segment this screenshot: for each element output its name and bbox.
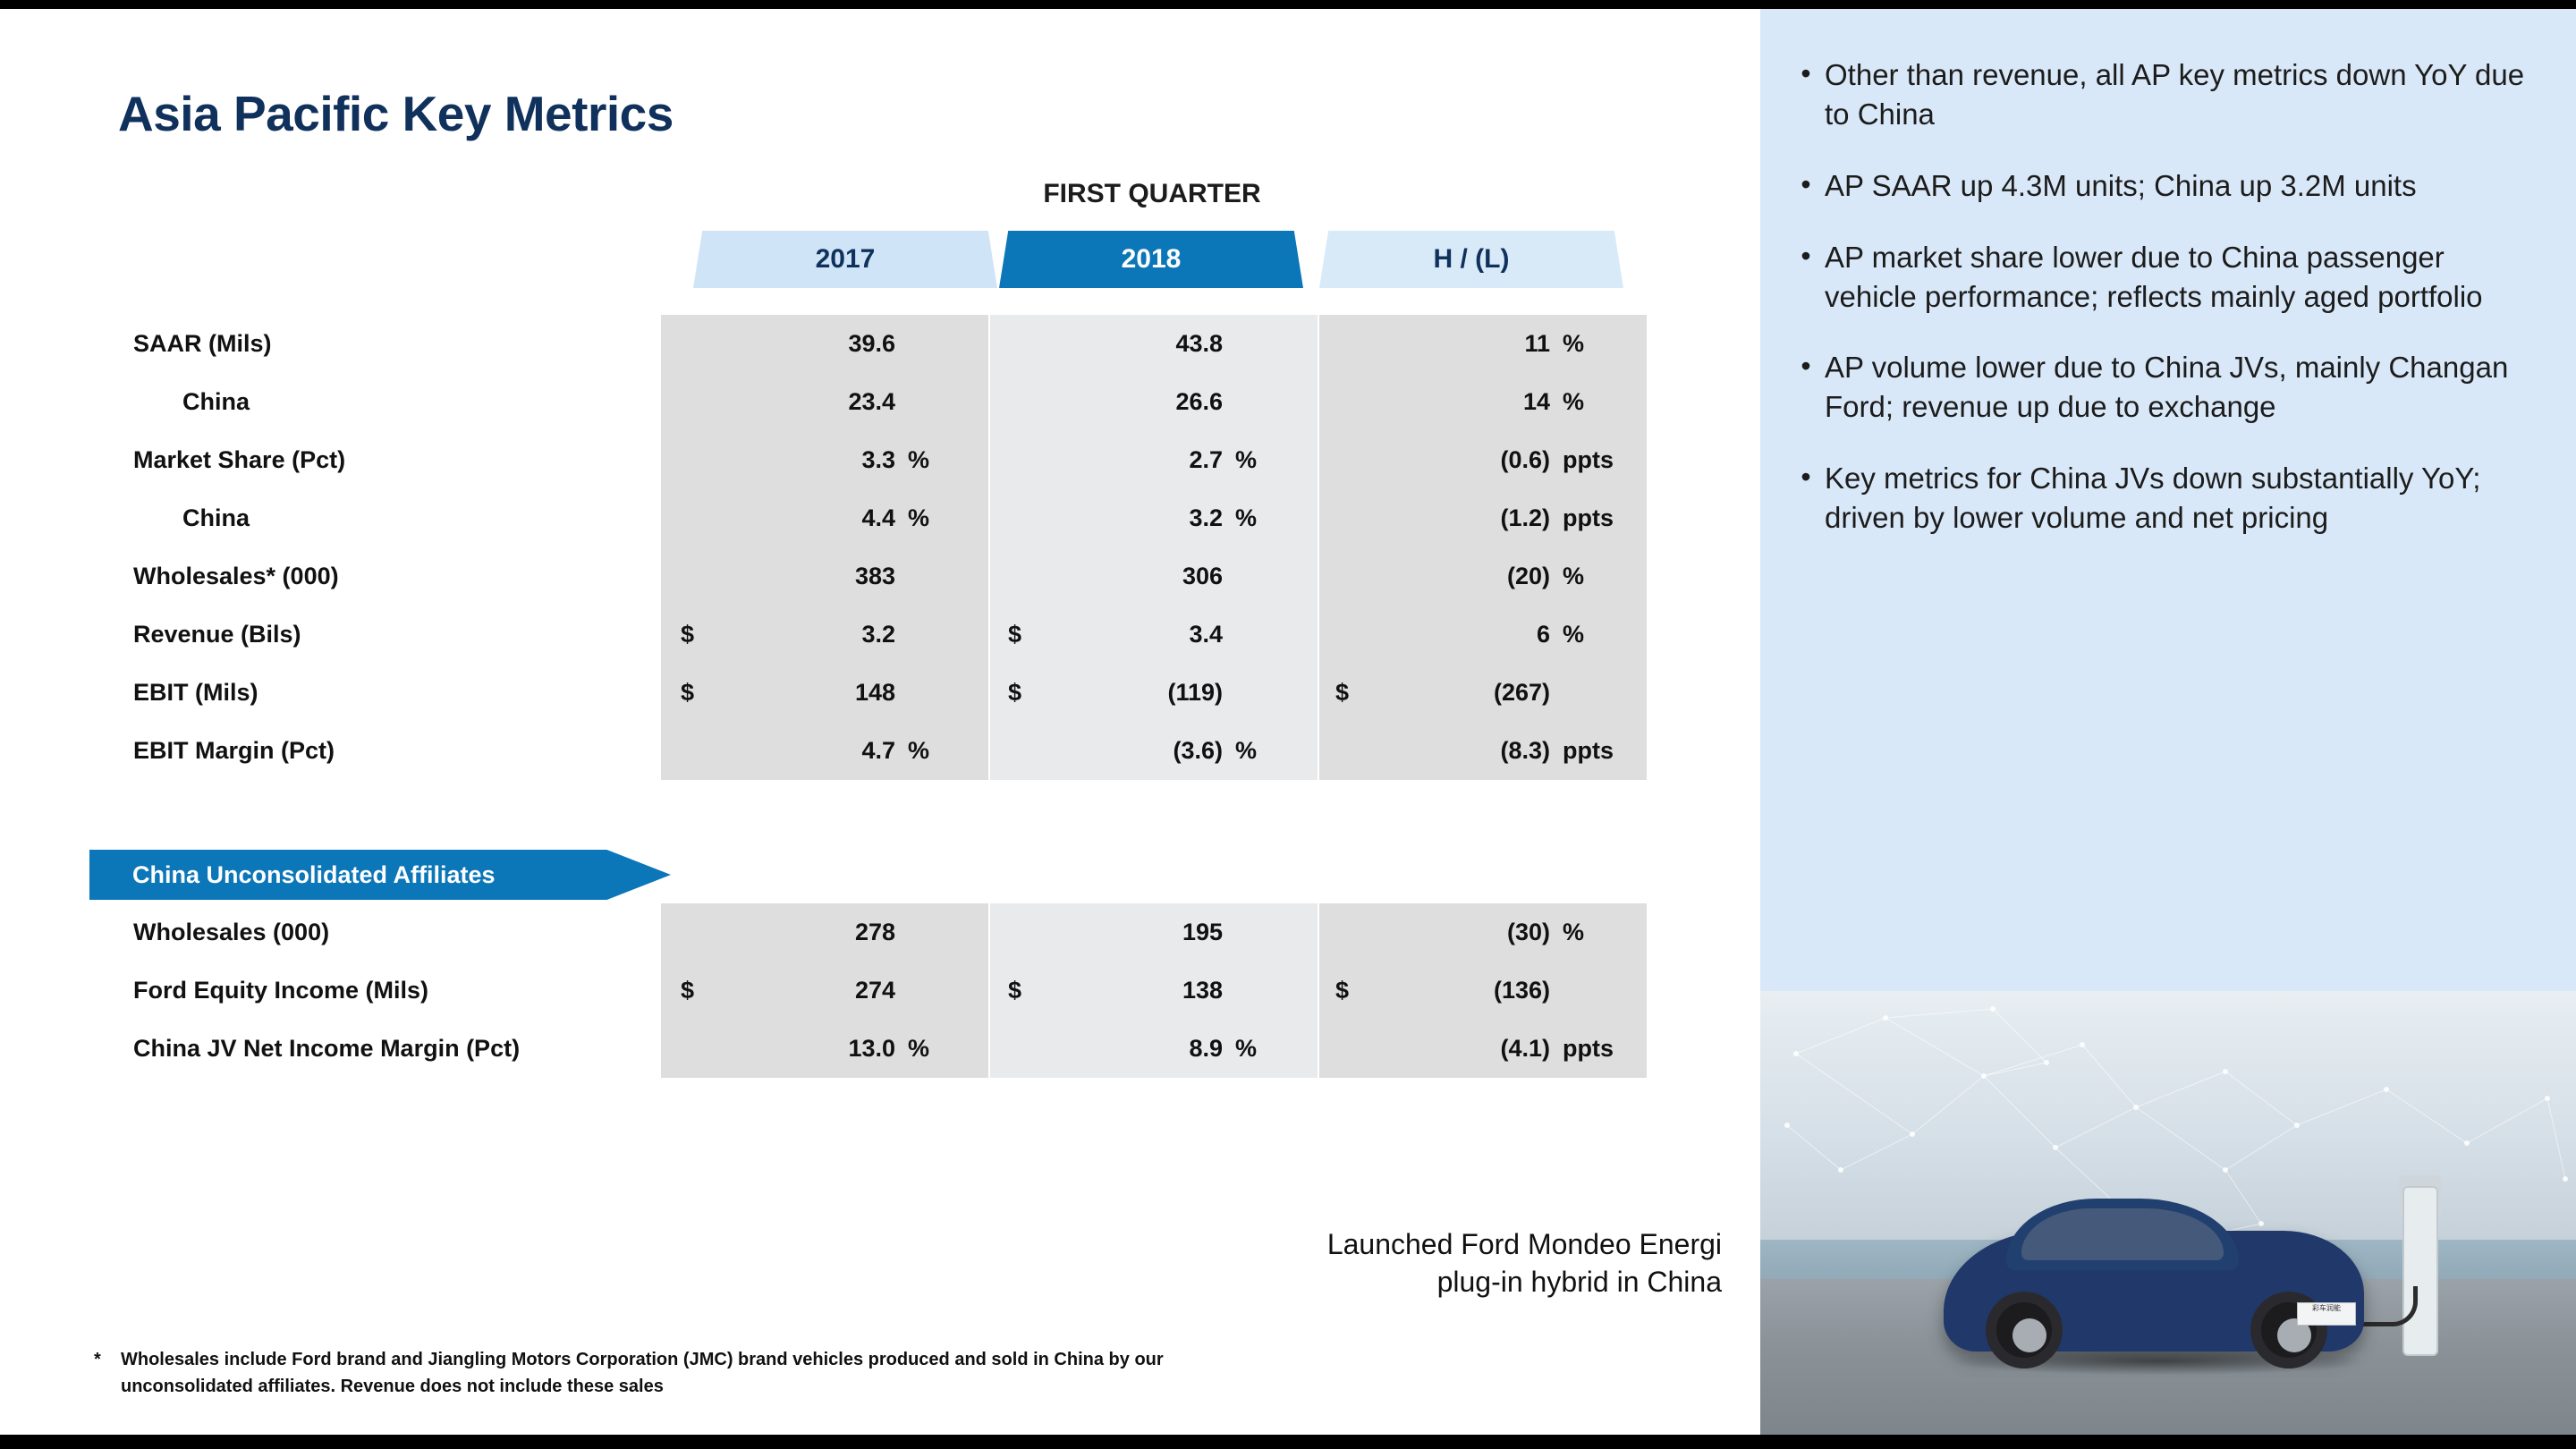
key-metrics-table: SAAR (Mils) 39.6 43.8 11 % C bbox=[118, 315, 1649, 780]
list-item: • AP SAAR up 4.3M units; China up 3.2M u… bbox=[1787, 166, 2540, 206]
cell-hl: (30) % bbox=[1316, 903, 1643, 962]
value: 383 bbox=[661, 563, 895, 590]
value: (20) bbox=[1316, 563, 1550, 590]
value: (1.2) bbox=[1316, 504, 1550, 532]
unit: ppts bbox=[1563, 446, 1640, 474]
left-content-pane: Asia Pacific Key Metrics FIRST QUARTER 2… bbox=[0, 9, 1760, 1435]
table-row: China 4.4 % 3.2 % (1.2) ppts bbox=[118, 489, 1649, 547]
ev-charger-post bbox=[2402, 1186, 2438, 1356]
table-row: China JV Net Income Margin (Pct) 13.0 % … bbox=[118, 1020, 1649, 1078]
unit: ppts bbox=[1563, 1035, 1640, 1063]
cell-hl: 11 % bbox=[1316, 315, 1643, 373]
column-header-hl-label: H / (L) bbox=[1434, 244, 1510, 275]
row-label: China bbox=[118, 504, 661, 532]
affiliates-banner: China Unconsolidated Affiliates bbox=[89, 850, 671, 900]
cell-2017: 4.7 % bbox=[661, 722, 988, 780]
unit: % bbox=[1563, 919, 1640, 946]
table-row: Market Share (Pct) 3.3 % 2.7 % (0.6) ppt… bbox=[118, 431, 1649, 489]
bullet-dot-icon: • bbox=[1787, 348, 1825, 427]
bullet-dot-icon: • bbox=[1787, 166, 1825, 206]
value: 4.7 bbox=[661, 737, 895, 765]
value: 39.6 bbox=[661, 330, 895, 358]
bullet-dot-icon: • bbox=[1787, 459, 1825, 538]
value: 274 bbox=[661, 977, 895, 1004]
cell-hl: (0.6) ppts bbox=[1316, 431, 1643, 489]
cell-2018: $ 138 bbox=[988, 962, 1316, 1020]
value: (0.6) bbox=[1316, 446, 1550, 474]
product-photo: 彩车润能 bbox=[1760, 991, 2576, 1435]
photo-caption-line2: plug-in hybrid in China bbox=[1123, 1263, 1722, 1301]
row-label: China JV Net Income Margin (Pct) bbox=[118, 1035, 661, 1063]
row-label: EBIT (Mils) bbox=[118, 679, 661, 707]
photo-caption-line1: Launched Ford Mondeo Energi bbox=[1123, 1225, 1722, 1263]
value: (4.1) bbox=[1316, 1035, 1550, 1063]
value: (119) bbox=[988, 679, 1223, 707]
value: 195 bbox=[988, 919, 1223, 946]
value: 13.0 bbox=[661, 1035, 895, 1063]
value: 8.9 bbox=[988, 1035, 1223, 1063]
unit: ppts bbox=[1563, 737, 1640, 765]
unit: % bbox=[908, 446, 985, 474]
cell-hl: (1.2) ppts bbox=[1316, 489, 1643, 547]
value: 2.7 bbox=[988, 446, 1223, 474]
unit: % bbox=[1563, 621, 1640, 648]
column-header-hl: H / (L) bbox=[1319, 231, 1623, 288]
value: 11 bbox=[1316, 330, 1550, 358]
bullet-dot-icon: • bbox=[1787, 55, 1825, 134]
cell-hl: $ (267) bbox=[1316, 664, 1643, 722]
cell-hl: $ (136) bbox=[1316, 962, 1643, 1020]
row-label: Wholesales (000) bbox=[118, 919, 661, 946]
table-row: China 23.4 26.6 14 % bbox=[118, 373, 1649, 431]
footnote: * Wholesales include Ford brand and Jian… bbox=[94, 1346, 1659, 1400]
cell-2017: $ 148 bbox=[661, 664, 988, 722]
row-label: Revenue (Bils) bbox=[118, 621, 661, 648]
value: 26.6 bbox=[988, 388, 1223, 416]
column-header-2018-label: 2018 bbox=[1122, 244, 1182, 275]
cell-hl: 14 % bbox=[1316, 373, 1643, 431]
value: 306 bbox=[988, 563, 1223, 590]
row-label: SAAR (Mils) bbox=[118, 330, 661, 358]
top-black-bar bbox=[0, 0, 2576, 9]
cell-2017: 13.0 % bbox=[661, 1020, 988, 1078]
table-row: Wholesales* (000) 383 306 (20) % bbox=[118, 547, 1649, 606]
row-label: Wholesales* (000) bbox=[118, 563, 661, 590]
cell-2017: 39.6 bbox=[661, 315, 988, 373]
unit: ppts bbox=[1563, 504, 1640, 532]
list-item: • Other than revenue, all AP key metrics… bbox=[1787, 55, 2540, 134]
column-header-2017-label: 2017 bbox=[816, 244, 876, 275]
table-row: EBIT (Mils) $ 148 $ (119) $ (267) bbox=[118, 664, 1649, 722]
value: 3.3 bbox=[661, 446, 895, 474]
value: 43.8 bbox=[988, 330, 1223, 358]
cell-2017: 383 bbox=[661, 547, 988, 606]
value: 4.4 bbox=[661, 504, 895, 532]
cell-2018: 306 bbox=[988, 547, 1316, 606]
value: 148 bbox=[661, 679, 895, 707]
unit: % bbox=[1563, 330, 1640, 358]
table-row: SAAR (Mils) 39.6 43.8 11 % bbox=[118, 315, 1649, 373]
bullet-text: AP SAAR up 4.3M units; China up 3.2M uni… bbox=[1825, 166, 2417, 206]
value: 3.4 bbox=[988, 621, 1223, 648]
cell-2017: $ 3.2 bbox=[661, 606, 988, 664]
table-row: Ford Equity Income (Mils) $ 274 $ 138 $ … bbox=[118, 962, 1649, 1020]
column-header-2017: 2017 bbox=[693, 231, 997, 288]
value: (136) bbox=[1316, 977, 1550, 1004]
value: 6 bbox=[1316, 621, 1550, 648]
list-item: • AP volume lower due to China JVs, main… bbox=[1787, 348, 2540, 427]
value: 278 bbox=[661, 919, 895, 946]
cell-hl: (20) % bbox=[1316, 547, 1643, 606]
cell-hl: 6 % bbox=[1316, 606, 1643, 664]
cell-2018: 8.9 % bbox=[988, 1020, 1316, 1078]
cell-2017: 3.3 % bbox=[661, 431, 988, 489]
bullet-dot-icon: • bbox=[1787, 238, 1825, 317]
value: 14 bbox=[1316, 388, 1550, 416]
cell-hl: (4.1) ppts bbox=[1316, 1020, 1643, 1078]
cell-2018: 3.2 % bbox=[988, 489, 1316, 547]
row-label: China bbox=[118, 388, 661, 416]
cell-2017: 278 bbox=[661, 903, 988, 962]
unit: % bbox=[1235, 737, 1312, 765]
period-label: FIRST QUARTER bbox=[1000, 179, 1304, 209]
unit: % bbox=[1563, 388, 1640, 416]
value: (8.3) bbox=[1316, 737, 1550, 765]
value: 3.2 bbox=[661, 621, 895, 648]
value: 3.2 bbox=[988, 504, 1223, 532]
cell-2018: 195 bbox=[988, 903, 1316, 962]
unit: % bbox=[1563, 563, 1640, 590]
value: (267) bbox=[1316, 679, 1550, 707]
bullet-text: Key metrics for China JVs down substanti… bbox=[1825, 459, 2540, 538]
list-item: • Key metrics for China JVs down substan… bbox=[1787, 459, 2540, 538]
car-wheel-front bbox=[1986, 1292, 2063, 1368]
table-row: EBIT Margin (Pct) 4.7 % (3.6) % (8.3) pp… bbox=[118, 722, 1649, 780]
footnote-line2: unconsolidated affiliates. Revenue does … bbox=[121, 1373, 1659, 1400]
row-label: Market Share (Pct) bbox=[118, 446, 661, 474]
cell-2018: (3.6) % bbox=[988, 722, 1316, 780]
value: (30) bbox=[1316, 919, 1550, 946]
table-row: Wholesales (000) 278 195 (30) % bbox=[118, 903, 1649, 962]
cell-2018: 43.8 bbox=[988, 315, 1316, 373]
table-row: Revenue (Bils) $ 3.2 $ 3.4 6 % bbox=[118, 606, 1649, 664]
bottom-black-bar bbox=[0, 1435, 2576, 1449]
bullet-text: Other than revenue, all AP key metrics d… bbox=[1825, 55, 2540, 134]
value: 138 bbox=[988, 977, 1223, 1004]
unit: % bbox=[908, 504, 985, 532]
photo-caption: Launched Ford Mondeo Energi plug-in hybr… bbox=[1123, 1225, 1722, 1301]
bullet-list: • Other than revenue, all AP key metrics… bbox=[1760, 9, 2576, 570]
unit: % bbox=[1235, 504, 1312, 532]
cell-2018: 2.7 % bbox=[988, 431, 1316, 489]
cell-2017: 4.4 % bbox=[661, 489, 988, 547]
unit: % bbox=[1235, 446, 1312, 474]
bullet-text: AP market share lower due to China passe… bbox=[1825, 238, 2540, 317]
page-title: Asia Pacific Key Metrics bbox=[118, 85, 674, 142]
footnote-line1: Wholesales include Ford brand and Jiangl… bbox=[121, 1346, 1659, 1373]
value: (3.6) bbox=[988, 737, 1223, 765]
slide-root: Asia Pacific Key Metrics FIRST QUARTER 2… bbox=[0, 0, 2576, 1449]
cell-2017: $ 274 bbox=[661, 962, 988, 1020]
row-label: EBIT Margin (Pct) bbox=[118, 737, 661, 765]
row-label: Ford Equity Income (Mils) bbox=[118, 977, 661, 1004]
unit: % bbox=[908, 1035, 985, 1063]
unit: % bbox=[1235, 1035, 1312, 1063]
cell-hl: (8.3) ppts bbox=[1316, 722, 1643, 780]
unit: % bbox=[908, 737, 985, 765]
footnote-marker: * bbox=[94, 1346, 101, 1373]
column-header-2018: 2018 bbox=[999, 231, 1303, 288]
license-plate: 彩车润能 bbox=[2297, 1302, 2356, 1326]
value: 23.4 bbox=[661, 388, 895, 416]
cell-2017: 23.4 bbox=[661, 373, 988, 431]
bullet-text: AP volume lower due to China JVs, mainly… bbox=[1825, 348, 2540, 427]
cell-2018: $ 3.4 bbox=[988, 606, 1316, 664]
cell-2018: $ (119) bbox=[988, 664, 1316, 722]
cell-2018: 26.6 bbox=[988, 373, 1316, 431]
affiliates-banner-label: China Unconsolidated Affiliates bbox=[132, 861, 496, 889]
affiliates-table: Wholesales (000) 278 195 (30) % bbox=[118, 903, 1649, 1078]
list-item: • AP market share lower due to China pas… bbox=[1787, 238, 2540, 317]
